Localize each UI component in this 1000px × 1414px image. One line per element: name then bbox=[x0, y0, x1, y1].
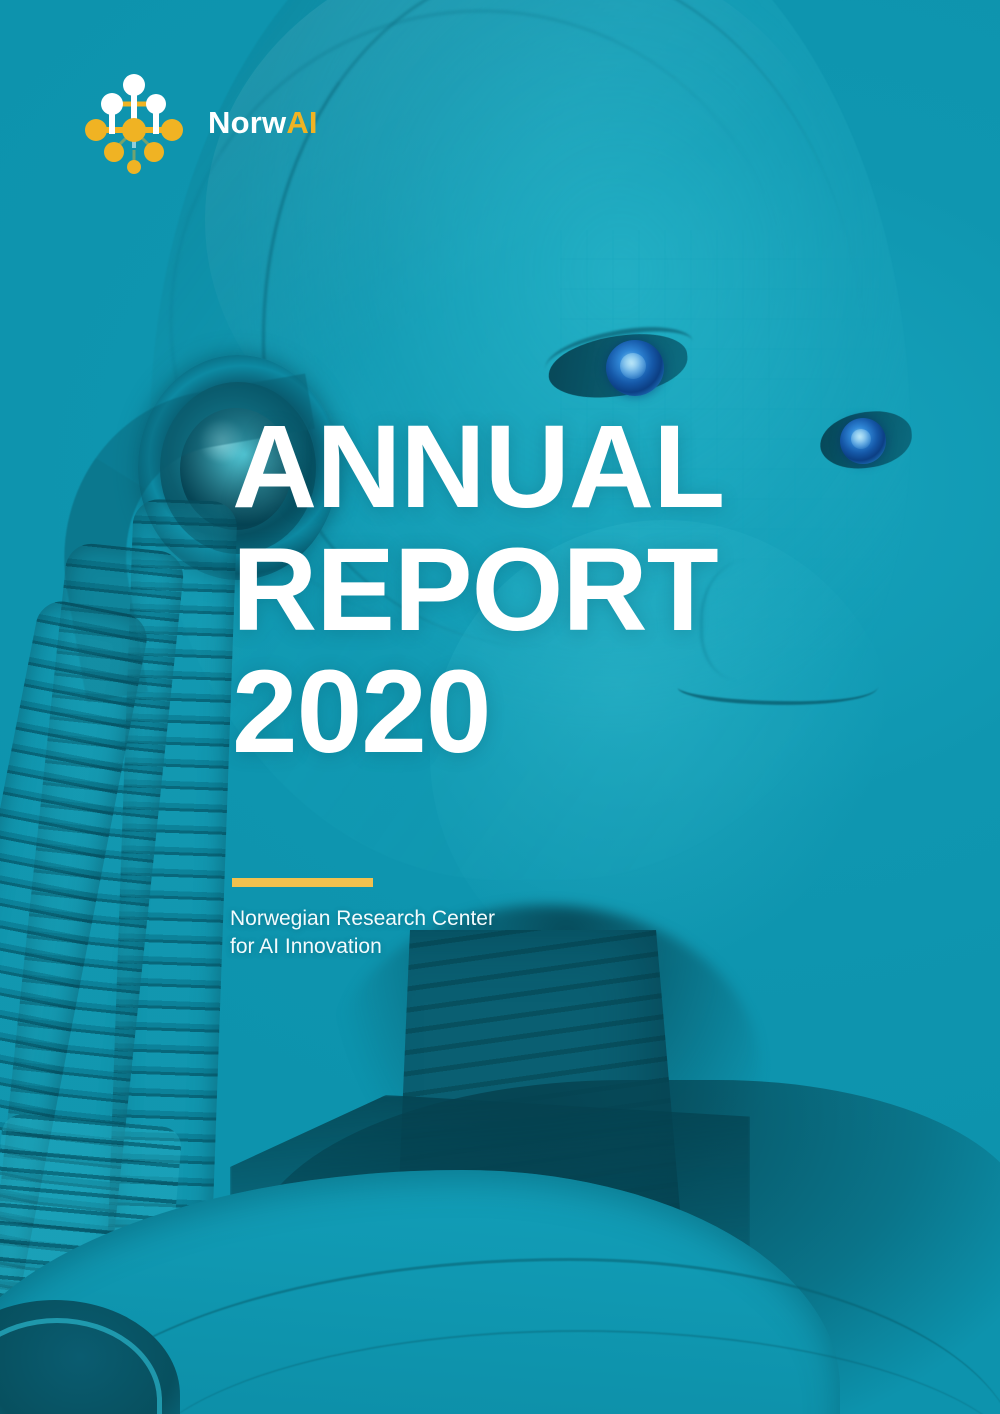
norwai-network-logo-icon bbox=[78, 68, 190, 176]
title-line-1: ANNUAL bbox=[232, 406, 724, 529]
wordmark-primary: Norw bbox=[208, 105, 286, 140]
subtitle-line-2: for AI Innovation bbox=[230, 933, 495, 961]
title-divider-rule bbox=[232, 878, 373, 887]
title-line-2: REPORT bbox=[232, 529, 724, 652]
robot-pupil-left bbox=[620, 353, 646, 379]
title-line-3: 2020 bbox=[232, 651, 724, 774]
wordmark-accent: AI bbox=[286, 105, 317, 140]
robot-pupil-right bbox=[851, 429, 871, 449]
subtitle-line-1: Norwegian Research Center bbox=[230, 905, 495, 933]
report-cover-page: NorwAI ANNUAL REPORT 2020 Norwegian Rese… bbox=[0, 0, 1000, 1414]
cover-subtitle: Norwegian Research Center for AI Innovat… bbox=[230, 905, 495, 960]
cover-title: ANNUAL REPORT 2020 bbox=[232, 406, 724, 774]
brand-logo-block[interactable]: NorwAI bbox=[78, 68, 318, 176]
brand-wordmark: NorwAI bbox=[208, 107, 318, 138]
